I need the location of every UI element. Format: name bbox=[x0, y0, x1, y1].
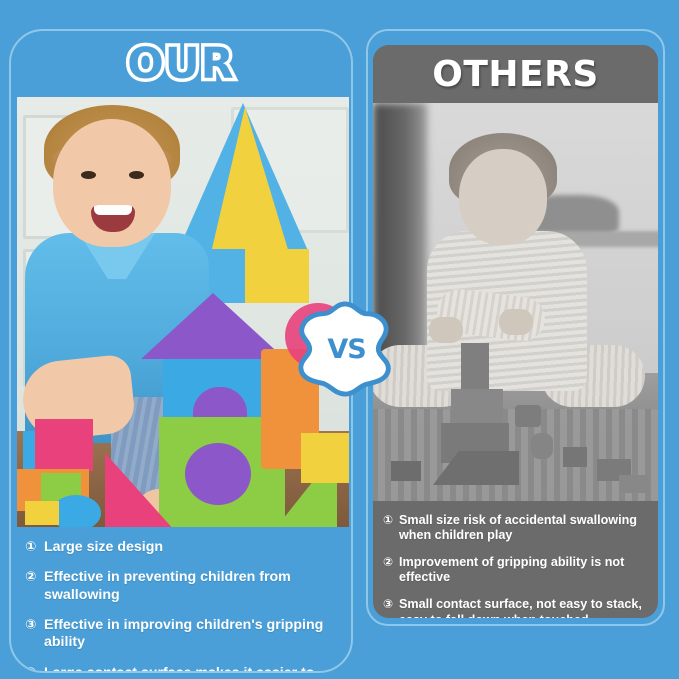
others-product-photo bbox=[373, 103, 658, 501]
others-panel: OTHERS bbox=[366, 29, 665, 626]
comparison-infographic: OUR bbox=[0, 0, 679, 679]
small-block bbox=[391, 461, 421, 481]
list-item: ① Small size risk of accidental swallowi… bbox=[383, 513, 646, 543]
bullet-number: ② bbox=[383, 555, 399, 570]
list-item: ① Large size design bbox=[25, 539, 337, 556]
list-item: ④ Large contact surface makes it easier … bbox=[25, 665, 337, 673]
others-title: OTHERS bbox=[432, 54, 599, 95]
small-block bbox=[531, 433, 553, 459]
bullet-number: ① bbox=[25, 539, 44, 555]
others-bullet-list: ① Small size risk of accidental swallowi… bbox=[373, 503, 658, 618]
block-yellow-triangle bbox=[211, 107, 289, 253]
bullet-text: Effective in improving children's grippi… bbox=[44, 617, 337, 652]
list-item: ② Improvement of gripping ability is not… bbox=[383, 555, 646, 585]
block-yellow-cube bbox=[301, 433, 349, 483]
boy-hand-left bbox=[429, 317, 463, 343]
boy-face bbox=[459, 149, 547, 245]
bullet-text: Large size design bbox=[44, 539, 337, 556]
our-header: OUR bbox=[11, 31, 351, 97]
block-pink-wedge bbox=[105, 453, 175, 527]
list-item: ② Effective in preventing children from … bbox=[25, 569, 337, 604]
bullet-number: ① bbox=[383, 513, 399, 528]
small-block bbox=[515, 405, 541, 427]
bullet-number: ③ bbox=[383, 597, 399, 612]
list-item: ③ Effective in improving children's grip… bbox=[25, 617, 337, 652]
block-yellow-small bbox=[25, 501, 59, 525]
our-bullet-list: ① Large size design ② Effective in preve… bbox=[11, 531, 351, 673]
bullet-text: Small size risk of accidental swallowing… bbox=[399, 513, 646, 543]
boy-hand-right bbox=[499, 309, 533, 335]
bullet-number: ③ bbox=[25, 617, 44, 633]
bullet-text: Large contact surface makes it easier to… bbox=[44, 665, 337, 673]
others-panel-inner: OTHERS bbox=[373, 45, 658, 618]
block-pink-small bbox=[35, 419, 93, 471]
small-block bbox=[619, 475, 649, 493]
list-item: ③ Small contact surface, not easy to sta… bbox=[383, 597, 646, 618]
block-purple-cylinder bbox=[185, 443, 251, 505]
bullet-number: ② bbox=[25, 569, 44, 585]
bullet-number: ④ bbox=[25, 665, 44, 673]
small-block bbox=[563, 447, 587, 467]
vs-label: VS bbox=[296, 300, 394, 398]
boy-eye-right bbox=[129, 171, 144, 179]
bullet-text: Effective in preventing children from sw… bbox=[44, 569, 337, 604]
others-header: OTHERS bbox=[373, 45, 658, 103]
bullet-text: Improvement of gripping ability is not e… bbox=[399, 555, 646, 585]
vs-badge: VS bbox=[296, 300, 394, 398]
our-title: OUR bbox=[127, 39, 235, 89]
boy-eye-left bbox=[81, 171, 96, 179]
bullet-text: Small contact surface, not easy to stack… bbox=[399, 597, 646, 618]
